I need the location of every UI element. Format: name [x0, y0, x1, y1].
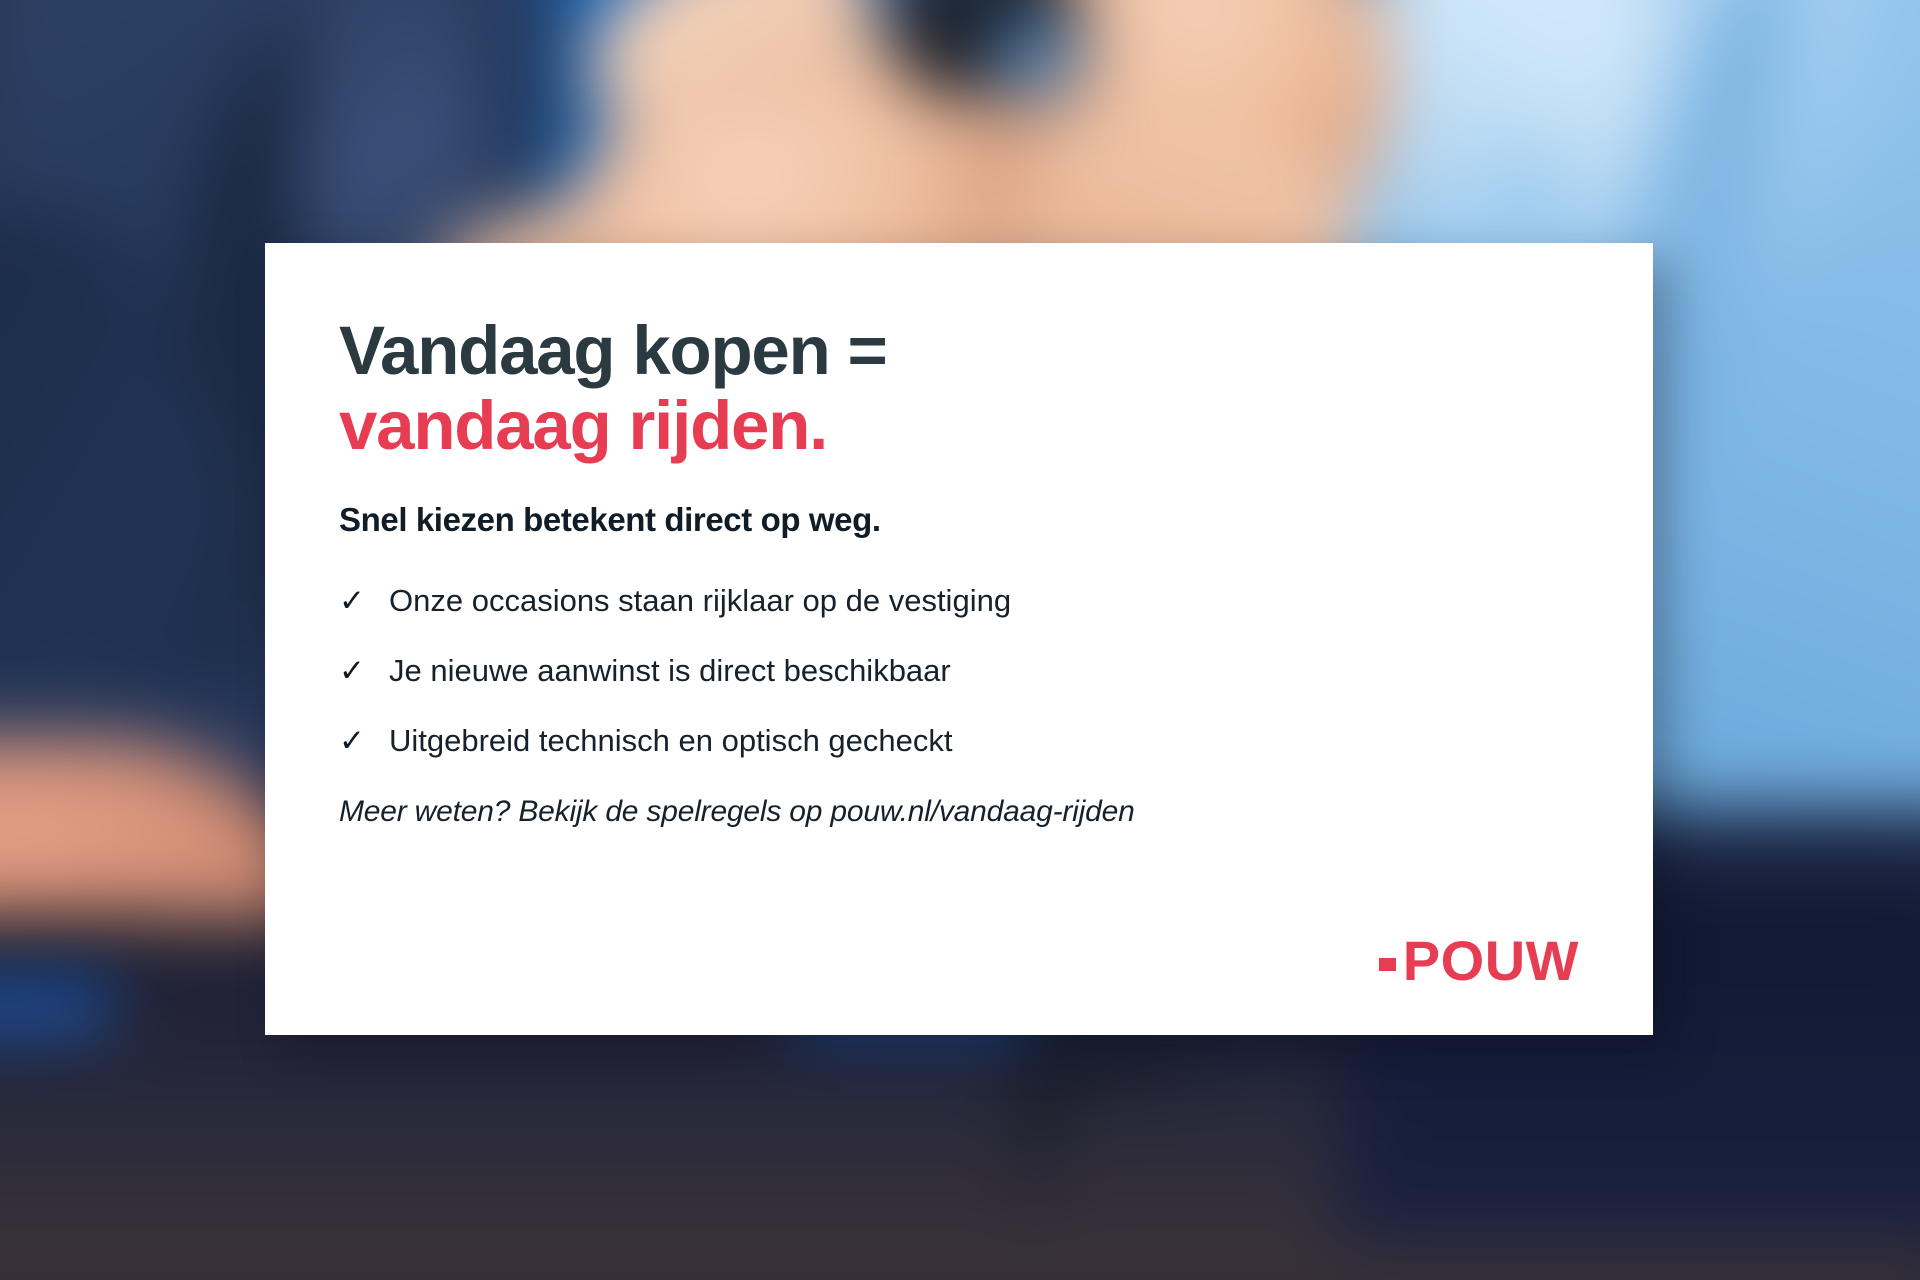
checkmark-icon: ✓ — [339, 655, 365, 686]
list-item-label: Je nieuwe aanwinst is direct beschikbaar — [389, 655, 951, 686]
headline-line-1: Vandaag kopen = — [339, 313, 1579, 388]
pouw-logo[interactable]: POUW — [1379, 933, 1579, 989]
list-item: ✓ Uitgebreid technisch en optisch gechec… — [339, 725, 1579, 756]
advertisement-banner: Vandaag kopen = vandaag rijden. Snel kie… — [0, 0, 1920, 1280]
subheading: Snel kiezen betekent direct op weg. — [339, 501, 1579, 539]
checkmark-icon: ✓ — [339, 725, 365, 756]
benefit-list: ✓ Onze occasions staan rijklaar op de ve… — [339, 585, 1579, 756]
checkmark-icon: ✓ — [339, 585, 365, 616]
list-item-label: Uitgebreid technisch en optisch gecheckt — [389, 725, 953, 756]
list-item-label: Onze occasions staan rijklaar op de vest… — [389, 585, 1011, 616]
page-title: Vandaag kopen = vandaag rijden. — [339, 313, 1579, 463]
headline-line-2: vandaag rijden. — [339, 388, 1579, 463]
list-item: ✓ Onze occasions staan rijklaar op de ve… — [339, 585, 1579, 616]
promo-card: Vandaag kopen = vandaag rijden. Snel kie… — [265, 243, 1653, 1035]
logo-dash-icon — [1379, 958, 1396, 971]
list-item: ✓ Je nieuwe aanwinst is direct beschikba… — [339, 655, 1579, 686]
key-ring-icon — [980, 0, 1090, 110]
logo-wordmark: POUW — [1403, 933, 1579, 989]
footnote-link-text[interactable]: Meer weten? Bekijk de spelregels op pouw… — [339, 795, 1579, 829]
